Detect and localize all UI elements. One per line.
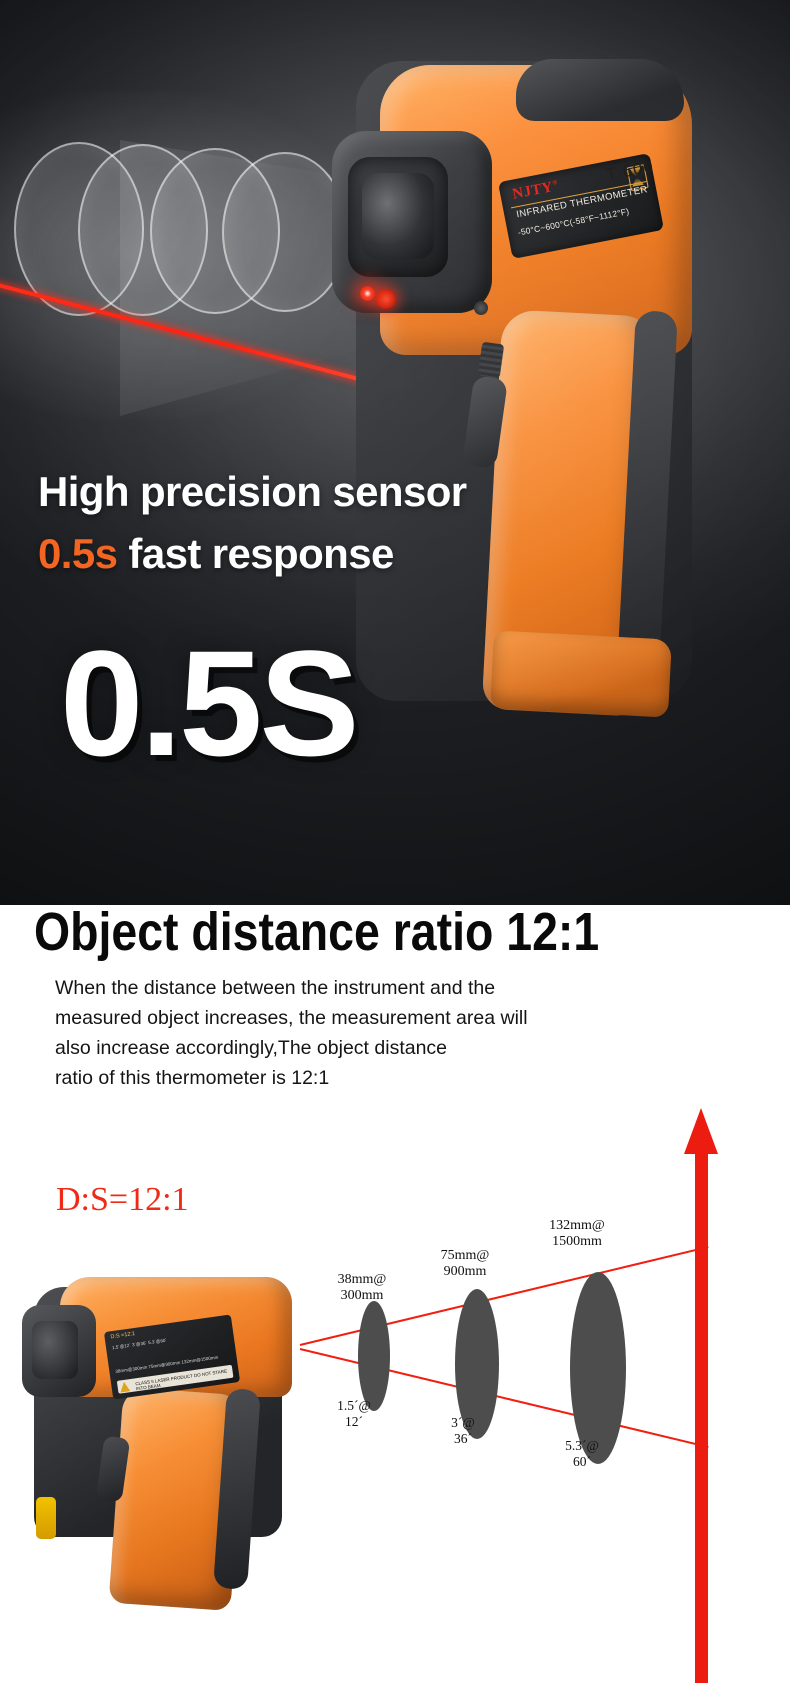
- lower-paragraph: When the distance between the instrument…: [55, 973, 695, 1093]
- increase-arrow: [684, 1108, 718, 1683]
- arrow-shaft: [695, 1150, 708, 1683]
- annotation-spot-2-mm: 75mm@ 900mm: [422, 1248, 508, 1280]
- measurement-spot-1: [358, 1301, 390, 1411]
- hero-headline-2: 0.5s fast response: [38, 530, 394, 578]
- hero-headline-highlight: 0.5s: [38, 530, 117, 577]
- hero-headline-rest: fast response: [117, 530, 393, 577]
- hero-section: NJTY® INFRARED THERMOMETER -50°C~600°C(-…: [0, 0, 790, 905]
- distance-spot-ratio-label: D:S=12:1: [56, 1181, 189, 1219]
- diagram-battery-door: [36, 1497, 56, 1539]
- paragraph-line: ratio of this thermometer is 12:1: [55, 1063, 695, 1093]
- hero-headline-1: High precision sensor: [38, 468, 467, 516]
- diagram-lens-glass: [32, 1321, 78, 1379]
- annotation-spot-1-ft: 1.5´@ 12´: [318, 1398, 390, 1430]
- diagram-label-ratio: D:S =12:1: [110, 1331, 135, 1340]
- warning-triangle-icon: [119, 1381, 130, 1392]
- product-detail-page: NJTY® INFRARED THERMOMETER -50°C~600°C(-…: [0, 0, 790, 1683]
- thermometer-diagram-device: D:S =12:1 1.5´@12´ 3´@36´ 5.3´@60´ 38mm@…: [24, 1277, 304, 1607]
- lower-title: Object distance ratio 12:1: [34, 905, 599, 959]
- arrow-head-icon: [684, 1108, 718, 1154]
- annotation-spot-3-ft: 5.3´@ 60´: [540, 1438, 624, 1470]
- paragraph-line: When the distance between the instrument…: [55, 973, 695, 1003]
- annotation-spot-2-ft: 3´@ 36´: [428, 1415, 498, 1447]
- paragraph-line: also increase accordingly,The object dis…: [55, 1033, 695, 1063]
- paragraph-line: measured object increases, the measureme…: [55, 1003, 695, 1033]
- annotation-spot-1-mm: 38mm@ 300mm: [322, 1272, 402, 1304]
- annotation-spot-3-mm: 132mm@ 1500mm: [528, 1218, 626, 1250]
- diagram-device-nose: [22, 1305, 96, 1397]
- diagram-label-metric: 1.5´@12´ 3´@36´ 5.3´@60´: [112, 1338, 167, 1351]
- measurement-spot-3: [570, 1272, 626, 1464]
- hero-big-number: 0.5S: [60, 628, 357, 778]
